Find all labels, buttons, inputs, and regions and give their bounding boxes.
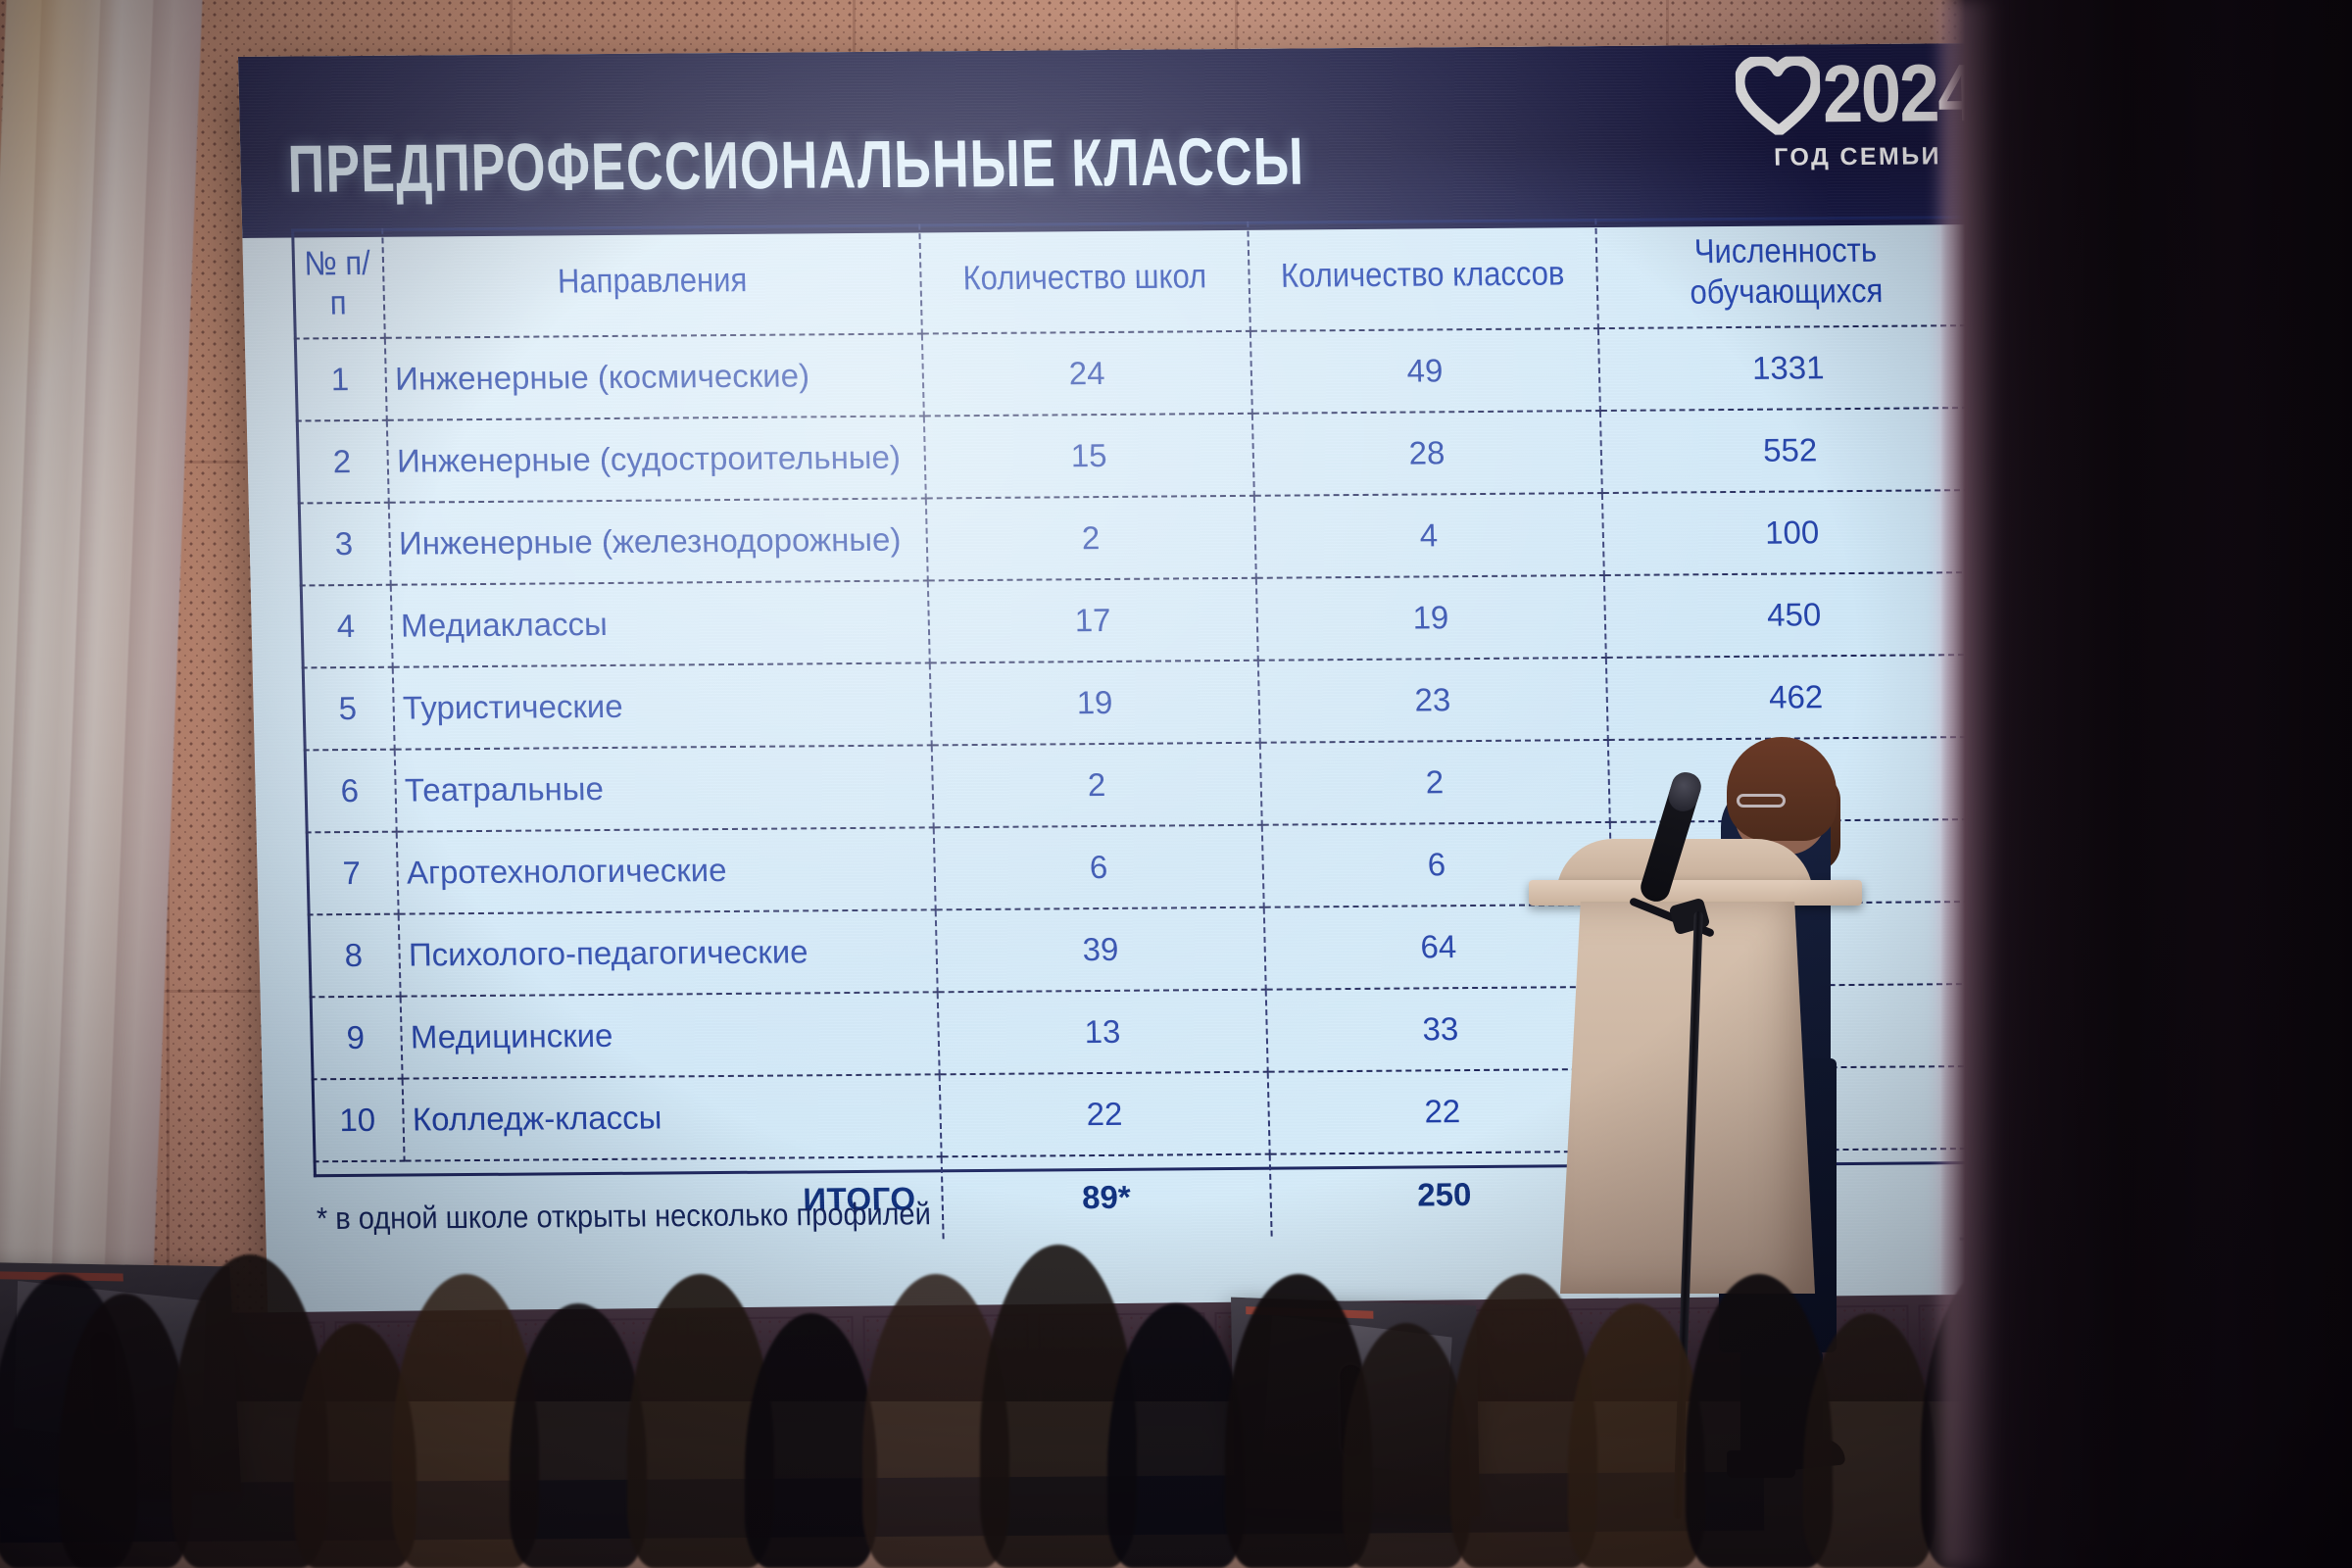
cell-students: 450 bbox=[1603, 572, 1983, 658]
cell-students: 552 bbox=[1599, 408, 1979, 493]
cell-number: 4 bbox=[300, 585, 393, 668]
cell-direction: Колледж-классы bbox=[403, 1074, 942, 1160]
column-header-students: Численность обучающихся bbox=[1595, 209, 1976, 334]
column-header-number: № п/п bbox=[291, 221, 385, 345]
column-header-students-line1: Численность bbox=[1604, 230, 1966, 273]
page-title: ПРЕДПРОФЕССИОНАЛЬНЫЕ КЛАССЫ bbox=[287, 122, 1305, 207]
cell-number: 2 bbox=[296, 420, 389, 504]
cell-direction: Психолого-педагогические bbox=[399, 909, 938, 996]
presenter-shoe-front bbox=[1727, 1450, 1795, 1478]
cell-number: 5 bbox=[302, 667, 395, 751]
cell-number: 10 bbox=[312, 1079, 405, 1162]
cell-schools: 24 bbox=[922, 331, 1252, 416]
cell-number: 3 bbox=[298, 503, 391, 586]
cell-number: 8 bbox=[308, 914, 401, 998]
cell-schools: 15 bbox=[924, 414, 1254, 499]
cell-schools: 2 bbox=[932, 743, 1262, 828]
cell-classes: 19 bbox=[1255, 575, 1605, 661]
cell-classes: 28 bbox=[1251, 411, 1601, 496]
cell-direction: Инженерные (железнодорожные) bbox=[389, 498, 928, 584]
slide-footnote: * в одной школе открыты несколько профил… bbox=[317, 1198, 932, 1238]
cell-direction: Театральные bbox=[395, 745, 934, 831]
column-header-classes: Количество классов bbox=[1248, 212, 1598, 337]
table-row: 3 Инженерные (железнодорожные) 2 4 100 bbox=[298, 490, 1982, 585]
cell-number: 7 bbox=[306, 832, 399, 915]
cell-schools: 19 bbox=[930, 661, 1260, 746]
cell-number: 6 bbox=[304, 750, 397, 833]
cell-direction: Инженерные (космические) bbox=[385, 333, 924, 419]
cell-students: 1331 bbox=[1597, 325, 1977, 411]
cell-direction: Туристические bbox=[393, 662, 932, 749]
auditorium-scene: ПРЕДПРОФЕССИОНАЛЬНЫЕ КЛАССЫ 2024 ГОД СЕМ… bbox=[0, 0, 2352, 1568]
logo-subtitle-text: ГОД СЕМЬИ bbox=[1774, 142, 1942, 171]
cell-direction: Инженерные (судостроительные) bbox=[387, 416, 926, 502]
cell-number: 1 bbox=[294, 338, 387, 421]
column-header-direction: Направления bbox=[382, 218, 922, 345]
glasses-icon bbox=[1737, 794, 1786, 808]
column-header-schools: Количество школ bbox=[919, 215, 1250, 340]
cell-direction: Агротехнологические bbox=[397, 827, 936, 913]
table-row: 5 Туристические 19 23 462 bbox=[302, 655, 1985, 750]
total-schools: 89* bbox=[942, 1154, 1272, 1240]
cell-students: 100 bbox=[1601, 490, 1981, 575]
cell-classes: 23 bbox=[1257, 658, 1607, 743]
cell-schools: 2 bbox=[926, 496, 1256, 581]
stage-monitor-right bbox=[1231, 1298, 1480, 1517]
cell-schools: 22 bbox=[940, 1072, 1270, 1157]
stage-edge bbox=[0, 1472, 1764, 1543]
table-row: 4 Медиаклассы 17 19 450 bbox=[300, 572, 1984, 667]
dark-curtain-right bbox=[1940, 0, 2352, 1568]
cell-schools: 17 bbox=[928, 578, 1258, 663]
presenter-hair bbox=[1727, 737, 1837, 841]
column-header-students-line2: обучающихся bbox=[1605, 270, 1967, 314]
cell-number: 9 bbox=[310, 997, 403, 1080]
stage-monitor-left bbox=[0, 1262, 241, 1492]
heart-icon bbox=[1736, 56, 1822, 135]
table-header-row: № п/п Направления Количество школ Количе… bbox=[291, 216, 1976, 338]
table-row: 2 Инженерные (судостроительные) 15 28 55… bbox=[296, 408, 1980, 503]
cell-direction: Медицинские bbox=[401, 992, 940, 1078]
cell-direction: Медиаклассы bbox=[391, 580, 930, 666]
cell-schools: 13 bbox=[938, 990, 1268, 1075]
cell-students: 462 bbox=[1605, 655, 1984, 740]
presenter-at-podium bbox=[1509, 764, 1980, 1548]
table-head: № п/п Направления Количество школ Количе… bbox=[291, 216, 1976, 338]
cell-schools: 39 bbox=[936, 907, 1266, 993]
cell-classes: 49 bbox=[1250, 328, 1600, 414]
cell-classes: 4 bbox=[1253, 493, 1603, 578]
cell-schools: 6 bbox=[934, 825, 1264, 910]
